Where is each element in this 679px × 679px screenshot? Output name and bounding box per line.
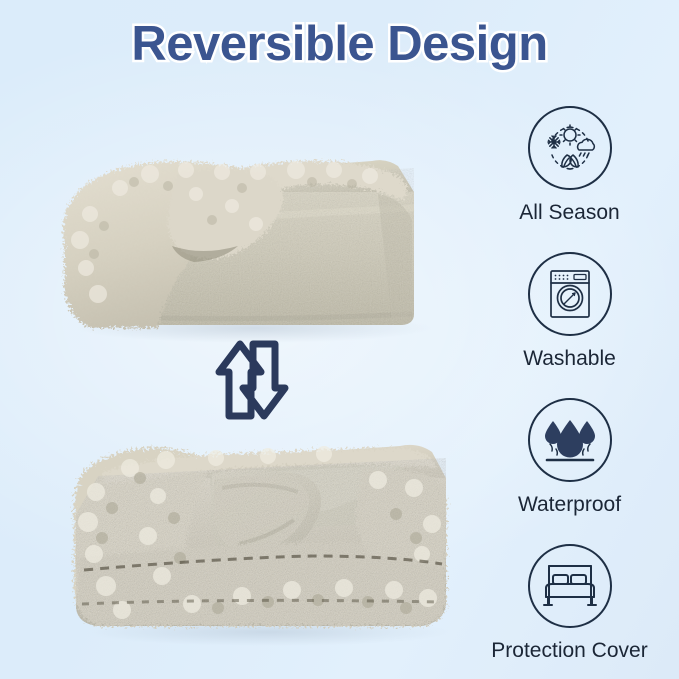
droplet-center [557,420,583,458]
washing-machine-icon [528,252,612,336]
feature-label: Waterproof [518,494,621,516]
water-droplets-icon [528,398,612,482]
feature-label: All Season [519,202,619,224]
droplet-left [545,421,561,444]
feature-waterproof: Waterproof [462,398,677,516]
pillow-right [571,575,586,584]
all-season-icon [528,106,612,190]
pillow-left [553,575,568,584]
feature-all-season: All Season [462,106,677,224]
bed-icon [528,544,612,628]
mattress [546,584,594,597]
feature-label: Protection Cover [491,640,647,662]
feature-label: Washable [523,348,616,370]
folded-blanket-fleece-side-up [46,128,446,343]
page-title: Reversible Design [0,16,679,72]
snowflake-icon [548,136,560,148]
infographic-canvas: Reversible Design [0,0,679,679]
legs [544,597,596,605]
control-panel [554,274,585,279]
feature-protection-cover: Protection Cover [462,544,677,662]
folded-blanket-sherpa-side-up [62,418,474,646]
drum-door [557,285,582,310]
feature-washable: Washable [462,252,677,370]
droplets [545,420,595,458]
reversible-arrows [213,338,291,422]
sun-icon [560,125,580,145]
leaves-icon [561,155,577,167]
feature-list: All Season [462,106,677,662]
rain-cloud-icon [577,139,594,156]
droplet-right [579,421,595,444]
